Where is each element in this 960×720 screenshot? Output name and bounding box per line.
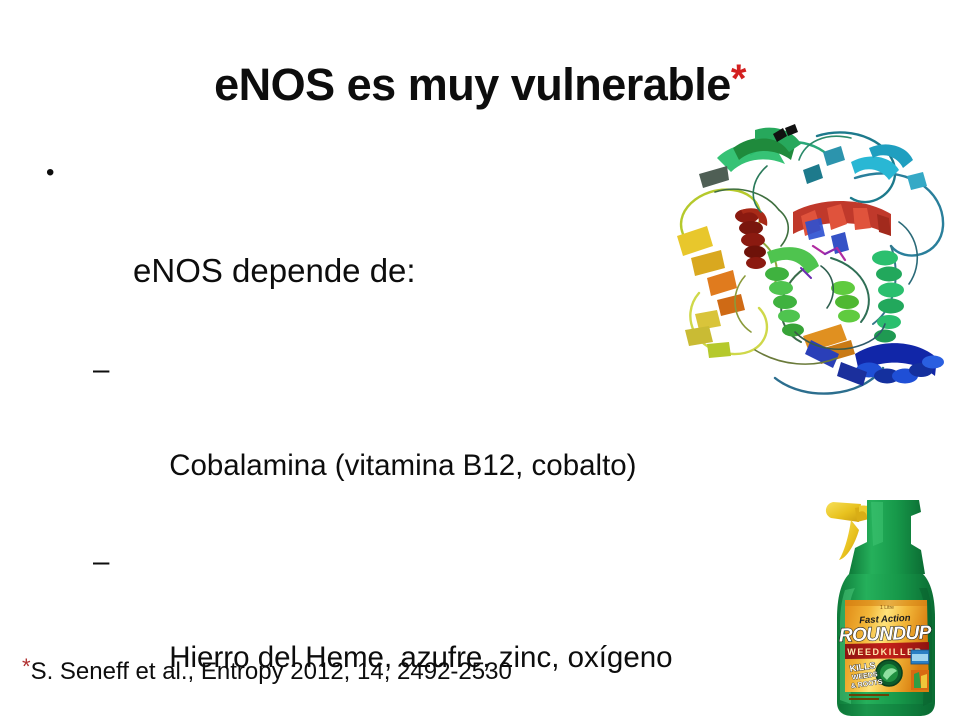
- bullet-text: eNOS depende de:: [133, 252, 416, 289]
- bullet-level1-enos-depende: • eNOS depende de:: [30, 148, 860, 344]
- bullet-text: Hierro del Heme, azufre, zinc, oxígeno: [169, 641, 672, 674]
- slide-title-text: eNOS es muy vulnerable: [214, 59, 731, 110]
- slide-title: eNOS es muy vulnerable*: [0, 52, 960, 112]
- slide-canvas: .hlx { stroke-linecap:round; stroke-line…: [0, 0, 960, 720]
- svg-text:1 Litre: 1 Litre: [880, 605, 894, 611]
- bullet-level2-hierro: – Hierro del Heme, azufre, zinc, oxígeno: [30, 538, 860, 720]
- dash-icon: –: [93, 538, 109, 586]
- bullet-dot-icon: •: [46, 148, 54, 197]
- bullet-text: Cobalamina (vitamina B12, cobalto): [169, 449, 636, 482]
- dash-icon: –: [93, 346, 109, 394]
- bullet-level2-cobalamina: – Cobalamina (vitamina B12, cobalto): [30, 346, 860, 538]
- bullet-list: • eNOS depende de: – Cobalamina (vitamin…: [30, 148, 860, 720]
- title-asterisk: *: [731, 57, 746, 101]
